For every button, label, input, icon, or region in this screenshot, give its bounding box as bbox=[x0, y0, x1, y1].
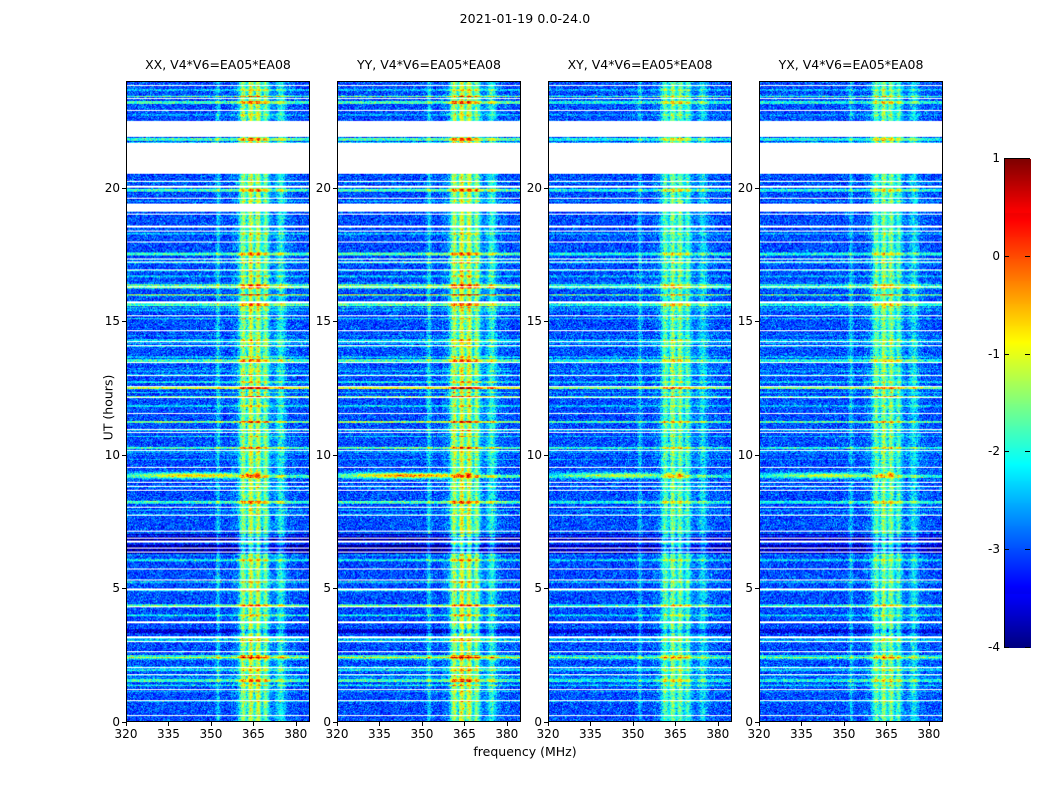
x-tick-mark bbox=[253, 722, 254, 726]
y-tick-label: 5 bbox=[86, 581, 120, 595]
x-tick-mark bbox=[337, 722, 338, 726]
x-tick-label: 350 bbox=[824, 727, 864, 741]
x-tick-label: 335 bbox=[359, 727, 399, 741]
y-tick-mark bbox=[333, 188, 337, 189]
x-tick-label: 380 bbox=[698, 727, 738, 741]
y-tick-mark bbox=[122, 321, 126, 322]
colorbar[interactable] bbox=[1004, 158, 1030, 647]
x-tick-mark bbox=[548, 722, 549, 726]
x-tick-mark bbox=[211, 722, 212, 726]
x-tick-label: 335 bbox=[570, 727, 610, 741]
y-tick-mark bbox=[544, 188, 548, 189]
colorbar-tick-mark bbox=[1004, 354, 1009, 355]
y-tick-label: 20 bbox=[297, 181, 331, 195]
figure-suptitle: 2021-01-19 0.0-24.0 bbox=[0, 11, 1050, 26]
y-tick-mark bbox=[122, 588, 126, 589]
y-tick-mark bbox=[333, 321, 337, 322]
x-tick-mark bbox=[844, 722, 845, 726]
x-tick-mark bbox=[464, 722, 465, 726]
panel-title-yy: YY, V4*V6=EA05*EA08 bbox=[307, 57, 551, 77]
x-tick-label: 320 bbox=[317, 727, 357, 741]
colorbar-tick-mark bbox=[1025, 256, 1030, 257]
x-tick-mark bbox=[126, 722, 127, 726]
colorbar-tick-mark bbox=[1004, 549, 1009, 550]
colorbar-gradient bbox=[1005, 159, 1031, 648]
colorbar-tick-mark bbox=[1025, 354, 1030, 355]
figure-canvas: 2021-01-19 0.0-24.0 XX, V4*V6=EA05*EA08 … bbox=[0, 0, 1050, 800]
colorbar-tick-label: -3 bbox=[960, 542, 1000, 556]
y-tick-label: 20 bbox=[86, 181, 120, 195]
y-tick-label: 10 bbox=[86, 448, 120, 462]
colorbar-tick-mark bbox=[1004, 451, 1009, 452]
panel-title-xy: XY, V4*V6=EA05*EA08 bbox=[518, 57, 762, 77]
y-tick-label: 5 bbox=[297, 581, 331, 595]
x-tick-mark bbox=[168, 722, 169, 726]
x-tick-label: 320 bbox=[528, 727, 568, 741]
x-tick-label: 380 bbox=[909, 727, 949, 741]
colorbar-tick-mark bbox=[1025, 158, 1030, 159]
colorbar-tick-label: 0 bbox=[960, 249, 1000, 263]
y-tick-label: 20 bbox=[719, 181, 753, 195]
y-tick-mark bbox=[544, 455, 548, 456]
y-tick-label: 15 bbox=[508, 314, 542, 328]
y-tick-label: 10 bbox=[297, 448, 331, 462]
y-tick-label: 15 bbox=[86, 314, 120, 328]
panel-title-yx: YX, V4*V6=EA05*EA08 bbox=[729, 57, 973, 77]
x-tick-label: 350 bbox=[613, 727, 653, 741]
x-tick-mark bbox=[422, 722, 423, 726]
y-tick-label: 5 bbox=[719, 581, 753, 595]
x-tick-mark bbox=[718, 722, 719, 726]
colorbar-tick-label: -2 bbox=[960, 444, 1000, 458]
waterfall-panel-xx[interactable] bbox=[126, 81, 310, 722]
colorbar-tick-label: -1 bbox=[960, 347, 1000, 361]
colorbar-tick-mark bbox=[1025, 549, 1030, 550]
y-tick-label: 10 bbox=[508, 448, 542, 462]
waterfall-panel-yx[interactable] bbox=[759, 81, 943, 722]
x-tick-label: 365 bbox=[866, 727, 906, 741]
x-tick-label: 365 bbox=[444, 727, 484, 741]
y-tick-mark bbox=[122, 188, 126, 189]
y-tick-mark bbox=[122, 455, 126, 456]
panel-title-xx: XX, V4*V6=EA05*EA08 bbox=[96, 57, 340, 77]
colorbar-tick-label: -4 bbox=[960, 640, 1000, 654]
colorbar-tick-mark bbox=[1025, 451, 1030, 452]
y-tick-mark bbox=[544, 321, 548, 322]
y-tick-mark bbox=[755, 588, 759, 589]
x-axis-label: frequency (MHz) bbox=[0, 744, 1050, 759]
x-tick-mark bbox=[590, 722, 591, 726]
colorbar-tick-mark bbox=[1025, 647, 1030, 648]
x-tick-label: 380 bbox=[487, 727, 527, 741]
colorbar-tick-mark bbox=[1004, 647, 1009, 648]
x-tick-mark bbox=[507, 722, 508, 726]
x-tick-mark bbox=[801, 722, 802, 726]
waterfall-image-yx bbox=[760, 82, 942, 721]
y-tick-mark bbox=[755, 321, 759, 322]
waterfall-image-xx bbox=[127, 82, 309, 721]
y-tick-mark bbox=[755, 188, 759, 189]
x-tick-label: 320 bbox=[739, 727, 779, 741]
x-tick-label: 350 bbox=[402, 727, 442, 741]
x-tick-mark bbox=[633, 722, 634, 726]
x-tick-mark bbox=[929, 722, 930, 726]
x-tick-label: 335 bbox=[148, 727, 188, 741]
y-tick-label: 15 bbox=[719, 314, 753, 328]
y-tick-mark bbox=[755, 455, 759, 456]
x-tick-mark bbox=[886, 722, 887, 726]
x-tick-label: 380 bbox=[276, 727, 316, 741]
y-tick-label: 15 bbox=[297, 314, 331, 328]
y-tick-mark bbox=[333, 455, 337, 456]
y-tick-label: 10 bbox=[719, 448, 753, 462]
x-tick-label: 365 bbox=[655, 727, 695, 741]
y-tick-mark bbox=[333, 588, 337, 589]
waterfall-image-yy bbox=[338, 82, 520, 721]
x-tick-mark bbox=[675, 722, 676, 726]
waterfall-panel-yy[interactable] bbox=[337, 81, 521, 722]
colorbar-tick-mark bbox=[1004, 256, 1009, 257]
colorbar-tick-label: 1 bbox=[960, 151, 1000, 165]
x-tick-label: 365 bbox=[233, 727, 273, 741]
colorbar-tick-mark bbox=[1004, 158, 1009, 159]
y-tick-mark bbox=[544, 588, 548, 589]
y-tick-label: 5 bbox=[508, 581, 542, 595]
waterfall-panel-xy[interactable] bbox=[548, 81, 732, 722]
x-tick-label: 335 bbox=[781, 727, 821, 741]
x-tick-label: 350 bbox=[191, 727, 231, 741]
x-tick-mark bbox=[296, 722, 297, 726]
x-tick-mark bbox=[379, 722, 380, 726]
waterfall-image-xy bbox=[549, 82, 731, 721]
x-tick-mark bbox=[759, 722, 760, 726]
y-tick-label: 20 bbox=[508, 181, 542, 195]
x-tick-label: 320 bbox=[106, 727, 146, 741]
